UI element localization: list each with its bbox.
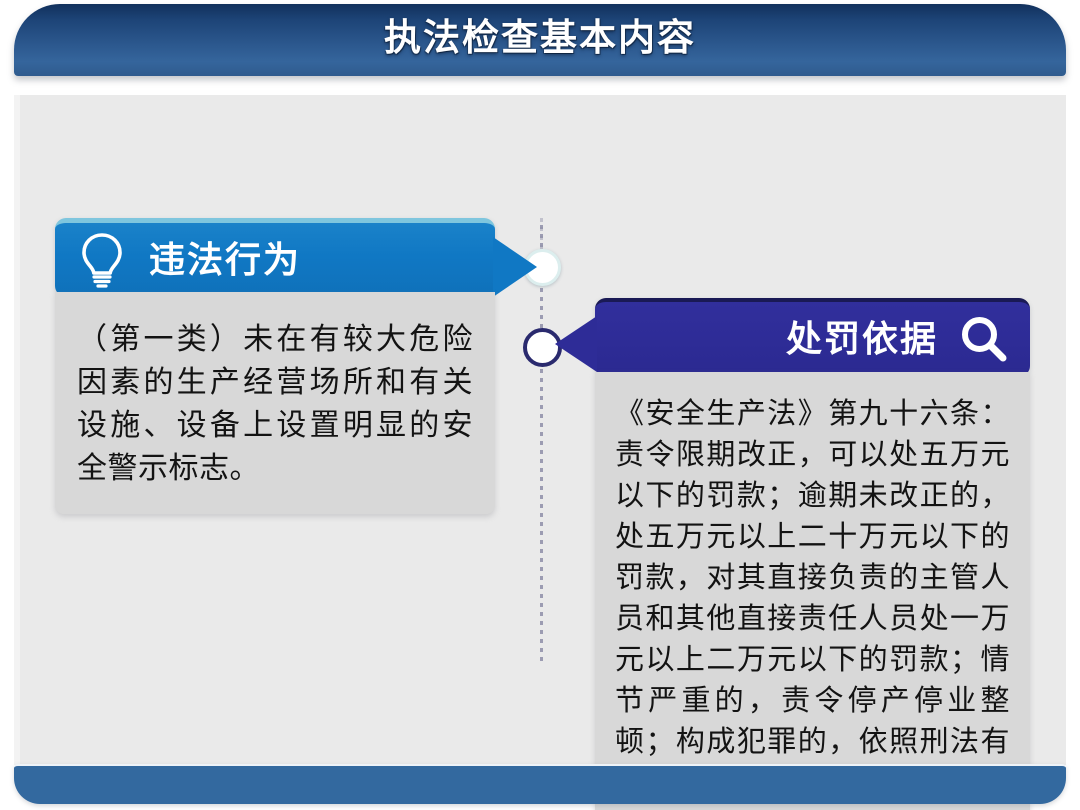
card-violation-body: （第一类）未在有较大危险因素的生产经营场所和有关设施、设备上设置明显的安全警示标…: [55, 292, 495, 514]
connector-line: [540, 225, 543, 665]
lightbulb-icon: [77, 231, 127, 289]
card-penalty-pointer: [555, 316, 597, 372]
page-title: 执法检查基本内容: [14, 12, 1066, 64]
card-violation-header: 违法行为: [55, 218, 495, 296]
footer-bar: [14, 764, 1066, 804]
search-icon: [958, 313, 1010, 365]
card-violation-pointer: [493, 237, 537, 297]
card-penalty-body: 《安全生产法》第九十六条：责令限期改正，可以处五万元以下的罚款；逾期未改正的，处…: [595, 372, 1030, 810]
card-penalty-header: 处罚依据: [595, 298, 1030, 376]
card-penalty: 处罚依据 《安全生产法》第九十六条：责令限期改正，可以处五万元以下的罚款；逾期未…: [595, 298, 1030, 810]
card-violation-title: 违法行为: [149, 242, 301, 278]
slide: 执法检查基本内容 违法行为 （第一类）未在有较大危险因素的生产经营场所和有关设施…: [0, 0, 1080, 810]
header-banner: 执法检查基本内容: [14, 4, 1066, 76]
card-penalty-title: 处罚依据: [786, 321, 938, 357]
card-violation: 违法行为 （第一类）未在有较大危险因素的生产经营场所和有关设施、设备上设置明显的…: [55, 218, 495, 514]
